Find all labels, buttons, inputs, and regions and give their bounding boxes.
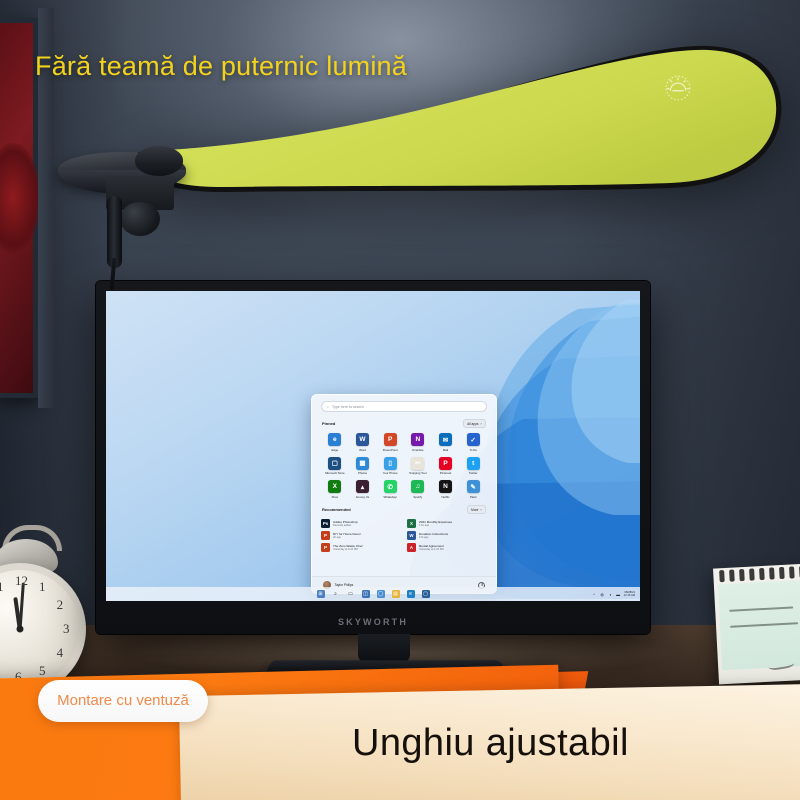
pinned-app-photos[interactable]: ▦Photos bbox=[349, 457, 377, 476]
recommended-item[interactable]: PThe Zero Waste ChefYesterday at 4:24 PM bbox=[321, 543, 401, 552]
photos-icon: ▦ bbox=[356, 457, 369, 470]
wall-picture-frame bbox=[0, 18, 38, 398]
pinned-app-label: Among Us bbox=[356, 495, 370, 499]
clock-numeral: 1 bbox=[39, 579, 46, 595]
pinned-app-mail[interactable]: ✉Mail bbox=[432, 433, 460, 452]
pinned-app-label: Spotify bbox=[413, 495, 422, 499]
more-label: More bbox=[471, 508, 478, 512]
pinned-app-spotify[interactable]: ♫Spotify bbox=[404, 480, 432, 499]
recommended-file-icon: X bbox=[407, 519, 416, 528]
notepad-line bbox=[729, 606, 793, 611]
pinned-apps-grid[interactable]: eEdgeWWordPPowerPointNOneNote✉Mail✓To Do… bbox=[321, 433, 487, 499]
recommended-item[interactable]: ARental AgreementYesterday at 1:15 PM bbox=[407, 543, 487, 552]
pinterest-icon: P bbox=[439, 457, 452, 470]
chevron-up-icon[interactable]: ^ bbox=[592, 592, 597, 597]
taskbar-edge-icon[interactable]: e bbox=[407, 590, 415, 598]
pinned-app-your-phone[interactable]: ▯Your Phone bbox=[376, 457, 404, 476]
pinned-app-to-do[interactable]: ✓To Do bbox=[459, 433, 487, 452]
system-tray[interactable]: ^ ◍ ◑ ▬ 08/28/21 12:15 AM bbox=[592, 587, 635, 601]
pinned-app-edge[interactable]: eEdge bbox=[321, 433, 349, 452]
monitor-stand-neck bbox=[358, 634, 410, 662]
pinned-app-among-us[interactable]: ▴Among Us bbox=[349, 480, 377, 499]
your-phone-icon: ▯ bbox=[384, 457, 397, 470]
recommended-file-icon: A bbox=[407, 543, 416, 552]
pinned-app-onenote[interactable]: NOneNote bbox=[404, 433, 432, 452]
mail-icon: ✉ bbox=[439, 433, 452, 446]
pinned-app-label: To Do bbox=[469, 448, 477, 452]
pinned-label: Pinned bbox=[322, 421, 335, 426]
monitor-screen[interactable]: ⌕ Type here to search Pinned All apps › … bbox=[106, 291, 640, 601]
pinned-app-netflix[interactable]: NNetflix bbox=[432, 480, 460, 499]
taskbar-chat-icon[interactable]: ◯ bbox=[377, 590, 385, 598]
edge-icon: e bbox=[328, 433, 341, 446]
network-icon[interactable]: ◍ bbox=[600, 592, 605, 597]
taskbar-start-icon[interactable]: ⊞ bbox=[317, 590, 325, 598]
notepad-page bbox=[718, 580, 800, 670]
pinned-app-label: Photos bbox=[358, 471, 367, 475]
pinned-app-label: Edge bbox=[331, 448, 338, 452]
recommended-subtitle: 2h ago bbox=[333, 536, 361, 539]
pinned-app-label: WhatsApp bbox=[383, 495, 396, 499]
windows-taskbar[interactable]: ⊞⌕▭◫◯▤e▢ ^ ◍ ◑ ▬ 08/28/21 12:15 AM bbox=[106, 587, 640, 601]
recommended-item[interactable]: PDIY for Home Decor2h ago bbox=[321, 531, 401, 540]
pinned-app-xbox[interactable]: XXbox bbox=[321, 480, 349, 499]
recommended-item[interactable]: WDonation Instructions12h ago bbox=[407, 531, 487, 540]
clock-numeral: 2 bbox=[57, 597, 64, 613]
all-apps-button[interactable]: All apps › bbox=[463, 419, 486, 428]
word-icon: W bbox=[356, 433, 369, 446]
pinned-app-powerpoint[interactable]: PPowerPoint bbox=[376, 433, 404, 452]
xbox-icon: X bbox=[328, 480, 341, 493]
taskbar-clock[interactable]: 08/28/21 12:15 AM bbox=[624, 591, 635, 598]
spotify-icon: ♫ bbox=[411, 480, 424, 493]
sun-protection-logo-icon bbox=[664, 74, 692, 102]
pinned-app-label: Mail bbox=[443, 448, 448, 452]
more-button[interactable]: More › bbox=[467, 505, 486, 514]
taskbar-task-view-icon[interactable]: ▭ bbox=[347, 590, 355, 598]
recommended-subtitle: Recently added bbox=[333, 524, 358, 527]
pinned-app-label: Your Phone bbox=[383, 471, 398, 475]
netflix-icon: N bbox=[439, 480, 452, 493]
recommended-label: Recommended bbox=[322, 507, 351, 512]
volume-icon[interactable]: ◑ bbox=[608, 592, 613, 597]
powerpoint-icon: P bbox=[384, 433, 397, 446]
whatsapp-icon: ✆ bbox=[384, 480, 397, 493]
pinned-app-label: Microsoft Store bbox=[325, 471, 344, 475]
pinned-app-label: Netflix bbox=[441, 495, 449, 499]
pinned-app-label: Word bbox=[359, 448, 366, 452]
suction-mount-badge: Montare cu ventuză bbox=[38, 680, 208, 722]
pinned-app-word[interactable]: WWord bbox=[349, 433, 377, 452]
ball-joint bbox=[120, 202, 160, 236]
taskbar-items[interactable]: ⊞⌕▭◫◯▤e▢ bbox=[317, 590, 430, 598]
pinned-app-pinterest[interactable]: PPinterest bbox=[432, 457, 460, 476]
pinned-app-paint[interactable]: ✎Paint bbox=[459, 480, 487, 499]
taskbar-widgets-icon[interactable]: ◫ bbox=[362, 590, 370, 598]
headline-top: Fără teamă de puternic lumină bbox=[35, 51, 407, 82]
pinned-app-label: Paint bbox=[470, 495, 477, 499]
windows-start-menu[interactable]: ⌕ Type here to search Pinned All apps › … bbox=[311, 394, 497, 594]
paint-icon: ✎ bbox=[467, 480, 480, 493]
snipping-tool-icon: ✂ bbox=[411, 457, 424, 470]
twitter-icon: t bbox=[467, 457, 480, 470]
clock-minute-hand bbox=[19, 583, 25, 631]
start-search-box[interactable]: ⌕ Type here to search bbox=[321, 401, 487, 412]
pinned-app-label: Pinterest bbox=[440, 471, 451, 475]
monitor-brand-label: SKYWORTH bbox=[96, 617, 650, 627]
recommended-subtitle: 12h ago bbox=[419, 536, 448, 539]
pinned-header: Pinned All apps › bbox=[322, 419, 486, 428]
notepad-signature bbox=[768, 657, 795, 671]
clock-numeral: 3 bbox=[63, 621, 70, 637]
taskbar-search-icon[interactable]: ⌕ bbox=[332, 590, 340, 598]
pinned-app-snipping-tool[interactable]: ✂Snipping Tool bbox=[404, 457, 432, 476]
all-apps-label: All apps bbox=[467, 422, 478, 426]
recommended-file-icon: P bbox=[321, 543, 330, 552]
start-search-placeholder: Type here to search bbox=[332, 405, 364, 409]
headline-bottom: Unghiu ajustabil bbox=[352, 722, 752, 765]
pinned-app-label: OneNote bbox=[412, 448, 424, 452]
chevron-right-icon: › bbox=[480, 422, 481, 426]
desk-notepad bbox=[713, 564, 800, 685]
product-promo-scene: 121234567891011 bbox=[0, 0, 800, 800]
onenote-icon: N bbox=[411, 433, 424, 446]
recommended-subtitle: Yesterday at 4:24 PM bbox=[333, 548, 362, 551]
recommended-list[interactable]: PsAdobe PhotoshopRecently addedX2021 Mon… bbox=[321, 519, 487, 552]
recommended-item[interactable]: X2021 Monthly Expenses17m ago bbox=[407, 519, 487, 528]
taskbar-store-icon[interactable]: ▢ bbox=[422, 590, 430, 598]
chevron-right-icon: › bbox=[480, 508, 481, 512]
to-do-icon: ✓ bbox=[467, 433, 480, 446]
battery-icon[interactable]: ▬ bbox=[616, 592, 621, 597]
pinned-app-label: Snipping Tool bbox=[409, 471, 426, 475]
clock-time: 12:15 AM bbox=[624, 594, 635, 597]
among-us-icon: ▴ bbox=[356, 480, 369, 493]
recommended-subtitle: Yesterday at 1:15 PM bbox=[419, 548, 444, 551]
microsoft-store-icon: ▢ bbox=[328, 457, 341, 470]
recommended-file-icon: P bbox=[321, 531, 330, 540]
mount-knob bbox=[135, 146, 183, 176]
lamp-suction-mount bbox=[54, 148, 224, 208]
recommended-item[interactable]: PsAdobe PhotoshopRecently added bbox=[321, 519, 401, 528]
pinned-app-twitter[interactable]: tTwitter bbox=[459, 457, 487, 476]
pinned-app-label: Twitter bbox=[469, 471, 478, 475]
pinned-app-whatsapp[interactable]: ✆WhatsApp bbox=[376, 480, 404, 499]
computer-monitor: ⌕ Type here to search Pinned All apps › … bbox=[96, 281, 650, 634]
recommended-header: Recommended More › bbox=[322, 505, 486, 514]
pinned-app-label: Xbox bbox=[332, 495, 339, 499]
taskbar-file-explorer-icon[interactable]: ▤ bbox=[392, 590, 400, 598]
clock-center-dot bbox=[17, 626, 24, 633]
recommended-subtitle: 17m ago bbox=[419, 524, 452, 527]
recommended-file-icon: W bbox=[407, 531, 416, 540]
clock-numeral: 4 bbox=[57, 645, 64, 661]
clock-numeral: 5 bbox=[39, 663, 46, 679]
pinned-app-microsoft-store[interactable]: ▢Microsoft Store bbox=[321, 457, 349, 476]
recommended-file-icon: Ps bbox=[321, 519, 330, 528]
clock-numeral: 12 bbox=[15, 573, 28, 589]
clock-numeral: 11 bbox=[0, 579, 4, 595]
notepad-line bbox=[730, 622, 798, 628]
pinned-app-label: PowerPoint bbox=[383, 448, 398, 452]
search-icon: ⌕ bbox=[327, 405, 329, 409]
